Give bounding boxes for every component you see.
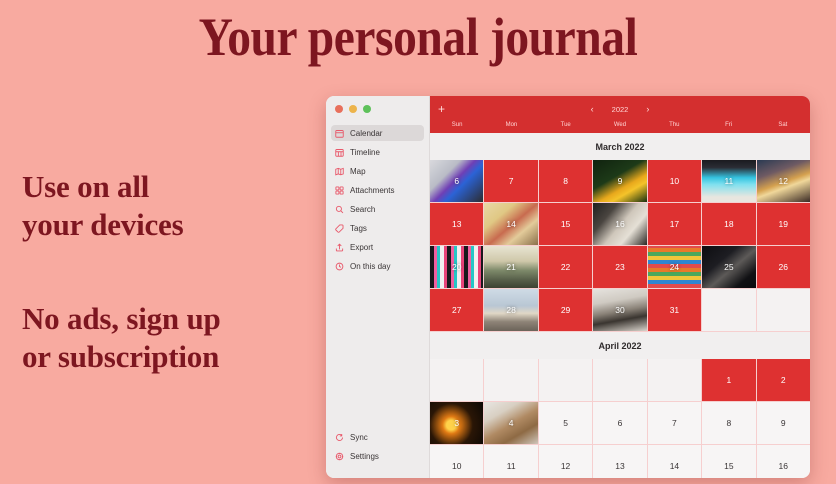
- promo-block-no-ads: No ads, sign up or subscription: [22, 300, 221, 376]
- day-number: 26: [779, 262, 788, 272]
- sidebar-item-label: Search: [350, 205, 375, 214]
- day-cell-empty: [593, 359, 646, 401]
- day-cell[interactable]: 1: [702, 359, 755, 401]
- minimize-button[interactable]: [349, 105, 357, 113]
- day-number: 24: [670, 262, 679, 272]
- day-number: 25: [724, 262, 733, 272]
- day-number: 20: [452, 262, 461, 272]
- weekday-label: Wed: [593, 122, 647, 128]
- day-cell[interactable]: 12: [757, 160, 810, 202]
- day-cell[interactable]: 26: [757, 246, 810, 288]
- day-cell[interactable]: 19: [757, 203, 810, 245]
- day-number: 23: [615, 262, 624, 272]
- promo-line: Use on all: [22, 168, 184, 206]
- month-title: March 2022: [430, 133, 810, 160]
- sidebar-item-label: Tags: [350, 224, 367, 233]
- day-cell-empty: [430, 359, 483, 401]
- day-cell[interactable]: 13: [430, 203, 483, 245]
- next-year-button[interactable]: ›: [646, 104, 649, 114]
- page-title: Your personal journal: [50, 10, 786, 64]
- day-number: 3: [454, 418, 459, 428]
- day-number: 22: [561, 262, 570, 272]
- map-icon: [335, 167, 344, 176]
- sidebar-nav: CalendarTimelineMapAttachmentsSearchTags…: [326, 125, 429, 274]
- day-cell[interactable]: 8: [539, 160, 592, 202]
- gear-icon: [335, 452, 344, 461]
- month-title: April 2022: [430, 332, 810, 359]
- sidebar-item-on-this-day[interactable]: On this day: [331, 258, 424, 274]
- day-number: 28: [506, 305, 515, 315]
- calendar-toolbar: + ‹ 2022 ›: [430, 96, 810, 122]
- day-cell[interactable]: 29: [539, 289, 592, 331]
- sidebar-item-label: Attachments: [350, 186, 394, 195]
- sidebar-item-calendar[interactable]: Calendar: [331, 125, 424, 141]
- day-number: 16: [779, 461, 788, 471]
- promo-line: or subscription: [22, 338, 221, 376]
- day-number: 27: [452, 305, 461, 315]
- calendar-panel: + ‹ 2022 › SunMonTueWedThuFriSat March 2…: [430, 96, 810, 478]
- sidebar-item-export[interactable]: Export: [331, 239, 424, 255]
- day-number: 8: [726, 418, 731, 428]
- day-cell[interactable]: 7: [484, 160, 537, 202]
- calendar-header: + ‹ 2022 › SunMonTueWedThuFriSat: [430, 96, 810, 133]
- day-cell[interactable]: 16: [593, 203, 646, 245]
- day-number: 8: [563, 176, 568, 186]
- day-number: 14: [506, 219, 515, 229]
- day-number: 31: [670, 305, 679, 315]
- day-number: 11: [507, 461, 516, 471]
- day-cell[interactable]: 11: [702, 160, 755, 202]
- day-number: 1: [726, 375, 731, 385]
- sidebar-item-label: Sync: [350, 433, 368, 442]
- day-cell[interactable]: 27: [430, 289, 483, 331]
- day-cell[interactable]: 6: [430, 160, 483, 202]
- sync-icon: [335, 433, 344, 442]
- close-button[interactable]: [335, 105, 343, 113]
- day-cell[interactable]: 15: [539, 203, 592, 245]
- day-number: 6: [454, 176, 459, 186]
- calendar-scroll-area[interactable]: March 2022678910111213141516171819202122…: [430, 133, 810, 478]
- week-row: 12: [430, 359, 810, 402]
- month-grid: 6789101112131415161718192021222324252627…: [430, 160, 810, 332]
- day-cell[interactable]: 30: [593, 289, 646, 331]
- day-cell[interactable]: 9: [757, 402, 810, 444]
- day-cell[interactable]: 13: [593, 445, 646, 478]
- sidebar-item-map[interactable]: Map: [331, 163, 424, 179]
- weekday-header: SunMonTueWedThuFriSat: [430, 122, 810, 133]
- day-cell[interactable]: 10: [430, 445, 483, 478]
- weekday-label: Sun: [430, 122, 484, 128]
- day-cell[interactable]: 9: [593, 160, 646, 202]
- day-cell[interactable]: 15: [702, 445, 755, 478]
- promo-block-devices: Use on all your devices: [22, 168, 184, 244]
- week-row: 20212223242526: [430, 246, 810, 289]
- add-entry-button[interactable]: +: [438, 103, 445, 115]
- day-number: 4: [509, 418, 514, 428]
- day-cell[interactable]: 11: [484, 445, 537, 478]
- day-number: 6: [618, 418, 623, 428]
- day-cell-empty: [484, 359, 537, 401]
- day-cell[interactable]: 14: [648, 445, 701, 478]
- day-number: 18: [724, 219, 733, 229]
- sidebar-item-label: Map: [350, 167, 366, 176]
- day-number: 14: [670, 461, 679, 471]
- day-cell[interactable]: 14: [484, 203, 537, 245]
- day-cell[interactable]: 7: [648, 402, 701, 444]
- sidebar-item-timeline[interactable]: Timeline: [331, 144, 424, 160]
- weekday-label: Tue: [539, 122, 593, 128]
- day-cell-empty: [539, 359, 592, 401]
- day-number: 10: [670, 176, 679, 186]
- sidebar-item-search[interactable]: Search: [331, 201, 424, 217]
- promo-line: your devices: [22, 206, 184, 244]
- day-number: 12: [561, 461, 570, 471]
- day-cell[interactable]: 20: [430, 246, 483, 288]
- day-cell[interactable]: 2: [757, 359, 810, 401]
- sidebar-item-label: Timeline: [350, 148, 380, 157]
- day-number: 15: [724, 461, 733, 471]
- current-year-label: 2022: [612, 105, 629, 114]
- day-cell[interactable]: 6: [593, 402, 646, 444]
- day-cell[interactable]: 21: [484, 246, 537, 288]
- day-number: 2: [781, 375, 786, 385]
- day-number: 7: [509, 176, 514, 186]
- day-cell[interactable]: 3: [430, 402, 483, 444]
- day-number: 12: [779, 176, 788, 186]
- day-cell-empty: [702, 289, 755, 331]
- calendar-icon: [335, 129, 344, 138]
- day-number: 7: [672, 418, 677, 428]
- day-cell[interactable]: 31: [648, 289, 701, 331]
- sidebar-item-label: Calendar: [350, 129, 382, 138]
- day-number: 15: [561, 219, 570, 229]
- day-number: 9: [618, 176, 623, 186]
- sidebar-item-label: On this day: [350, 262, 390, 271]
- week-row: 13141516171819: [430, 203, 810, 246]
- week-row: 6789101112: [430, 160, 810, 203]
- weekday-label: Thu: [647, 122, 701, 128]
- timeline-icon: [335, 148, 344, 157]
- window-controls: [326, 96, 429, 113]
- day-number: 11: [724, 176, 733, 186]
- sidebar: CalendarTimelineMapAttachmentsSearchTags…: [326, 96, 430, 478]
- zoom-button[interactable]: [363, 105, 371, 113]
- sidebar-item-sync[interactable]: Sync: [331, 429, 424, 445]
- day-number: 29: [561, 305, 570, 315]
- app-window: CalendarTimelineMapAttachmentsSearchTags…: [326, 96, 810, 478]
- day-cell[interactable]: 17: [648, 203, 701, 245]
- week-row: 2728293031: [430, 289, 810, 332]
- day-cell[interactable]: 10: [648, 160, 701, 202]
- weekday-label: Fri: [701, 122, 755, 128]
- day-cell[interactable]: 5: [539, 402, 592, 444]
- tag-icon: [335, 224, 344, 233]
- weekday-label: Mon: [484, 122, 538, 128]
- day-number: 16: [615, 219, 624, 229]
- day-cell[interactable]: 4: [484, 402, 537, 444]
- day-number: 13: [615, 461, 624, 471]
- day-cell[interactable]: 18: [702, 203, 755, 245]
- day-cell[interactable]: 24: [648, 246, 701, 288]
- promo-line: No ads, sign up: [22, 300, 221, 338]
- weekday-label: Sat: [756, 122, 810, 128]
- day-number: 30: [615, 305, 624, 315]
- week-row: 10111213141516: [430, 445, 810, 478]
- sidebar-item-tags[interactable]: Tags: [331, 220, 424, 236]
- day-cell[interactable]: 22: [539, 246, 592, 288]
- sidebar-nav-bottom: SyncSettings: [326, 429, 429, 464]
- day-number: 17: [670, 219, 679, 229]
- sidebar-item-attachments[interactable]: Attachments: [331, 182, 424, 198]
- day-cell[interactable]: 28: [484, 289, 537, 331]
- day-cell[interactable]: 23: [593, 246, 646, 288]
- search-icon: [335, 205, 344, 214]
- day-cell-empty: [648, 359, 701, 401]
- day-number: 10: [452, 461, 461, 471]
- day-cell[interactable]: 8: [702, 402, 755, 444]
- day-number: 21: [506, 262, 515, 272]
- attachments-icon: [335, 186, 344, 195]
- day-cell[interactable]: 12: [539, 445, 592, 478]
- sidebar-item-settings[interactable]: Settings: [331, 448, 424, 464]
- day-number: 19: [779, 219, 788, 229]
- week-row: 3456789: [430, 402, 810, 445]
- day-number: 5: [563, 418, 568, 428]
- prev-year-button[interactable]: ‹: [591, 104, 594, 114]
- export-icon: [335, 243, 344, 252]
- day-number: 9: [781, 418, 786, 428]
- year-navigator: ‹ 2022 ›: [430, 104, 810, 114]
- day-number: 13: [452, 219, 461, 229]
- sidebar-item-label: Export: [350, 243, 373, 252]
- day-cell[interactable]: 16: [757, 445, 810, 478]
- day-cell-empty: [757, 289, 810, 331]
- sidebar-item-label: Settings: [350, 452, 379, 461]
- month-grid: 12345678910111213141516: [430, 359, 810, 478]
- day-cell[interactable]: 25: [702, 246, 755, 288]
- clock-history-icon: [335, 262, 344, 271]
